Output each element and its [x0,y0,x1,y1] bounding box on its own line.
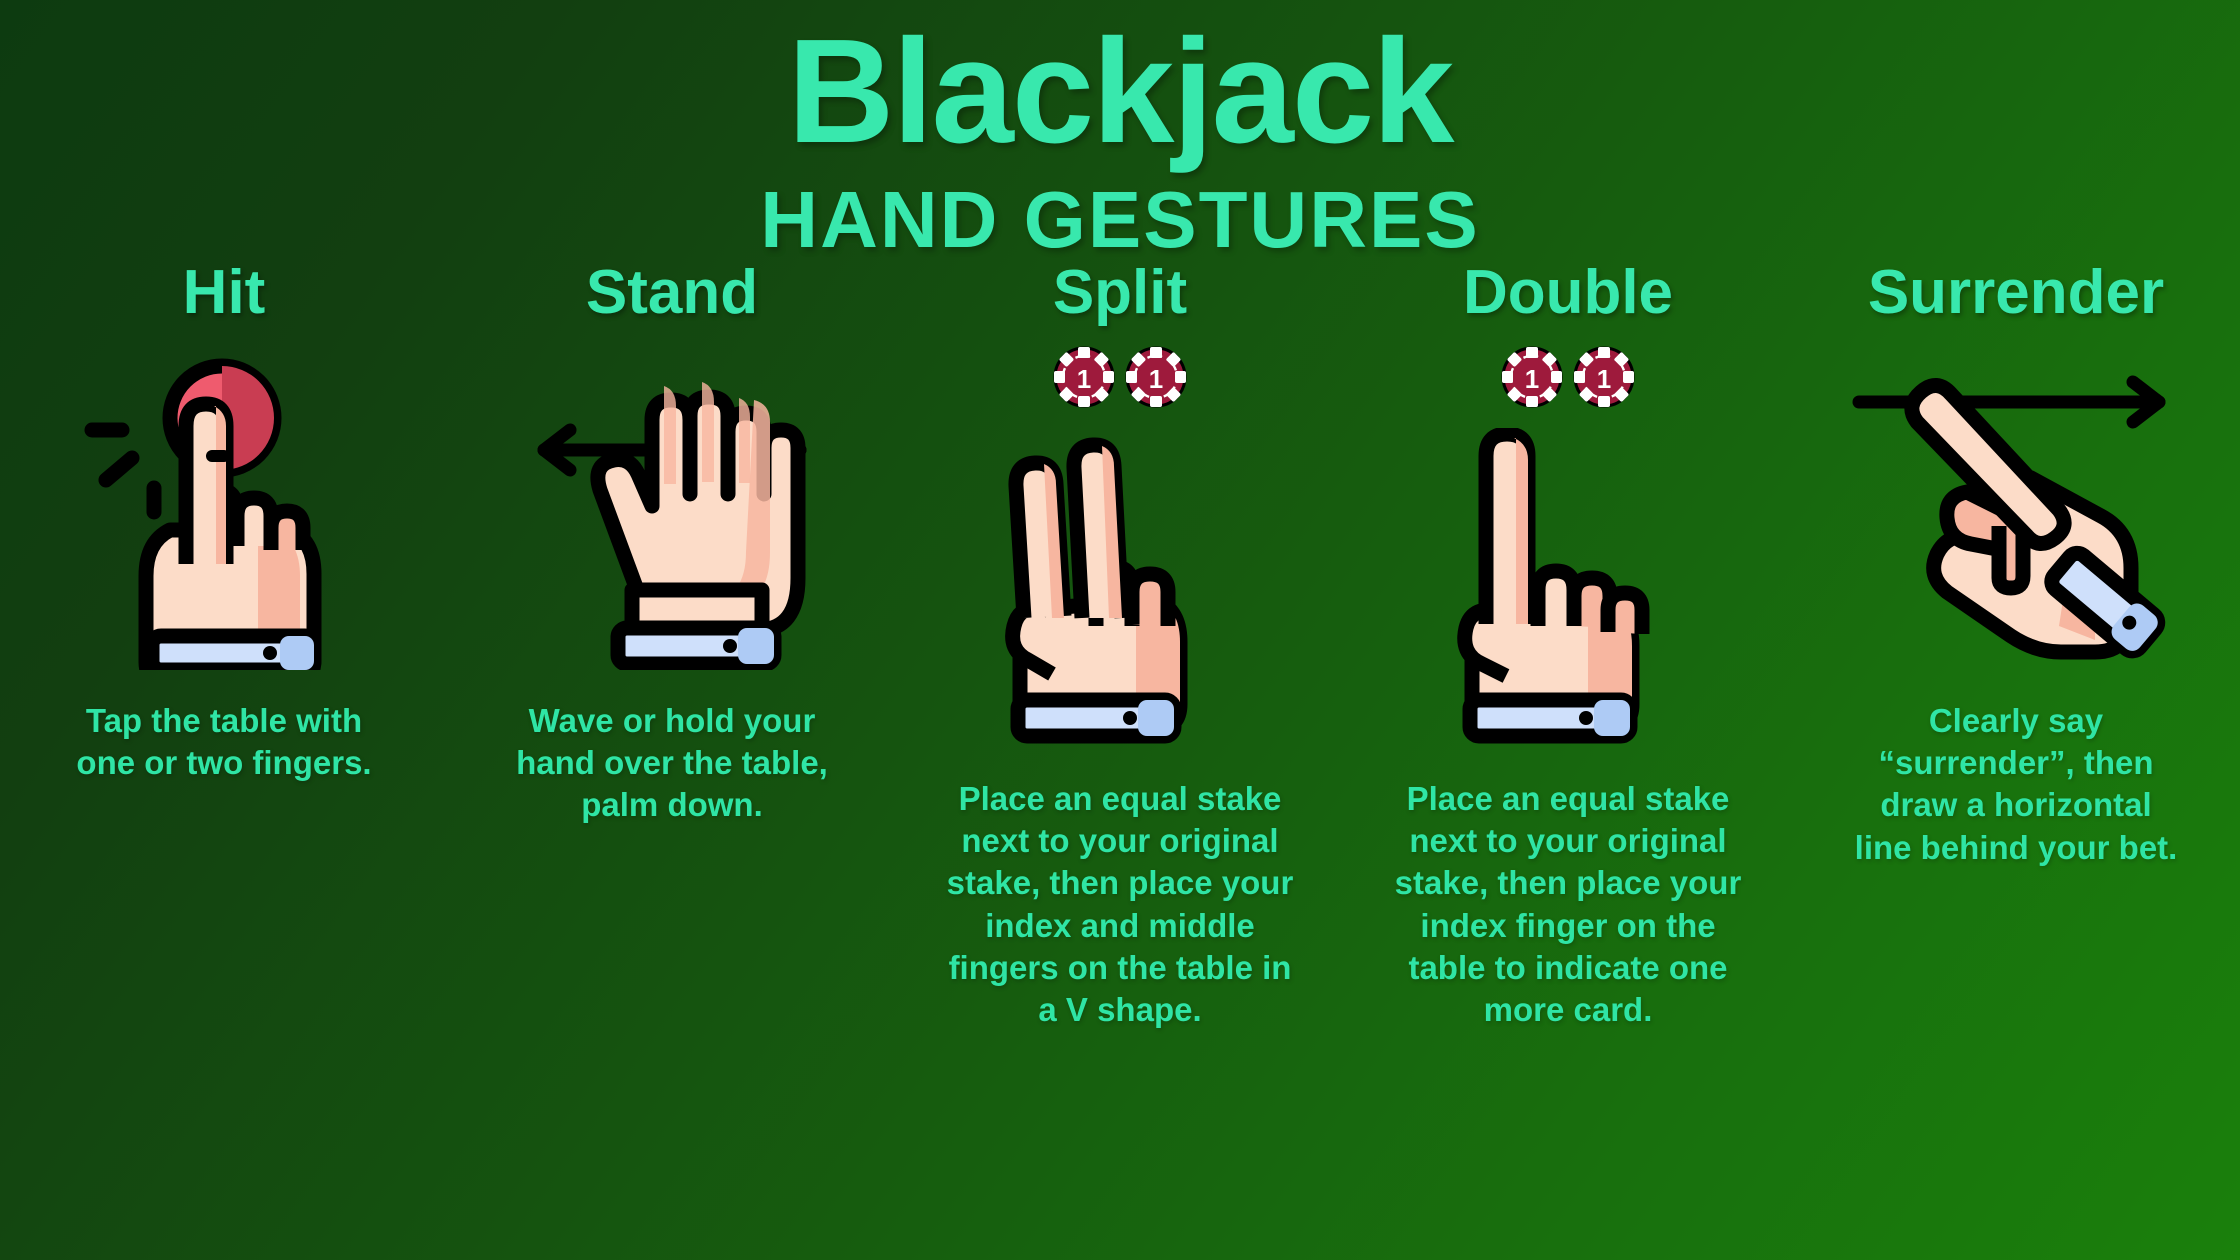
page-title: Blackjack [0,18,2240,166]
two-fingers-v-shape-icon [970,428,1270,748]
chips-split: 1 1 [1053,342,1187,412]
gesture-art-hit [74,340,374,670]
casino-chip-icon: 1 [1125,346,1187,408]
gesture-caption-double: Place an equal stake next to your origin… [1388,778,1748,1031]
chip-value: 1 [1525,364,1539,394]
page-subtitle: HAND GESTURES [0,180,2240,260]
hand-tapping-table-icon [74,340,374,670]
casino-chip-icon: 1 [1573,346,1635,408]
casino-chip-icon: 1 [1053,346,1115,408]
chip-value: 1 [1597,364,1611,394]
poster-header: Blackjack HAND GESTURES [0,0,2240,260]
gesture-column-surrender: Surrender [1792,262,2240,869]
chips-double: 1 1 [1501,342,1635,412]
gesture-caption-hit: Tap the table with one or two fingers. [59,700,389,784]
gesture-column-double: Double 1 [1344,262,1792,1031]
gesture-art-surrender [1851,340,2181,670]
gesture-title-surrender: Surrender [1868,262,2164,324]
gesture-art-double [1418,418,1718,748]
gesture-column-stand: Stand [448,262,896,827]
gesture-title-double: Double [1463,262,1673,324]
open-palm-waving-icon [522,340,822,670]
chip-value: 1 [1149,364,1163,394]
gesture-art-stand [522,340,822,670]
hand-drawing-horizontal-line-icon [1851,340,2181,670]
casino-chip-icon: 1 [1501,346,1563,408]
gesture-column-hit: Hit [0,262,448,784]
one-finger-pointing-up-icon [1418,428,1718,748]
gesture-title-split: Split [1053,262,1187,324]
gesture-title-hit: Hit [183,262,266,324]
chip-value: 1 [1077,364,1091,394]
gesture-art-split [970,418,1270,748]
gesture-column-split: Split 1 [896,262,1344,1031]
gesture-title-stand: Stand [586,262,758,324]
gesture-columns: Hit [0,262,2240,1252]
gesture-caption-stand: Wave or hold your hand over the table, p… [507,700,837,827]
gesture-caption-split: Place an equal stake next to your origin… [940,778,1300,1031]
infographic-poster: Blackjack HAND GESTURES Hit [0,0,2240,1260]
gesture-caption-surrender: Clearly say “surrender”, then draw a hor… [1851,700,2181,869]
